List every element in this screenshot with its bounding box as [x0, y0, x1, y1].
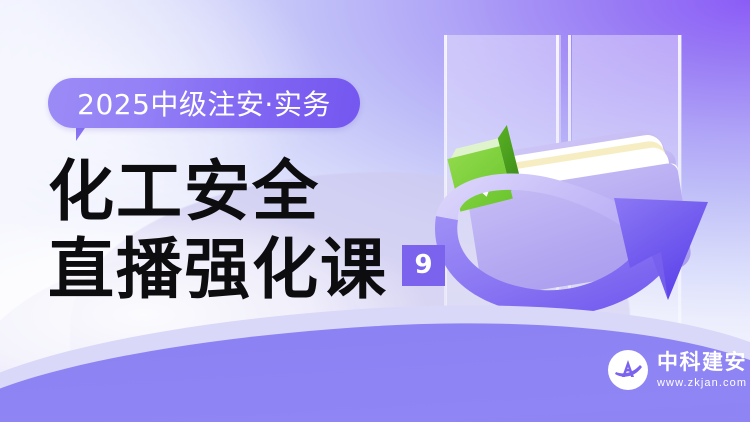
headline-line-2: 直播强化课: [48, 230, 388, 308]
headline-line-1: 化工安全: [48, 152, 320, 230]
headline-line-2-wrap: 直播强化课 9: [48, 230, 468, 308]
headline-line-1-wrap: 化工安全: [48, 152, 468, 230]
episode-number-badge: 9: [402, 245, 445, 286]
course-banner: 2025中级注安·实务 化工安全 直播强化课 9 中科建安 www.zkjan.…: [0, 0, 750, 422]
headline-block: 化工安全 直播强化课 9: [48, 152, 468, 308]
brand-logo: 中科建安 www.zkjan.com: [608, 350, 747, 390]
brand-logo-text: 中科建安 www.zkjan.com: [657, 352, 747, 389]
badge-pill: 2025中级注安·实务: [48, 78, 360, 128]
badge-pill-label: 2025中级注安·实务: [77, 83, 331, 123]
brand-url: www.zkjan.com: [657, 378, 747, 389]
zkjan-monogram-icon: [608, 350, 648, 390]
brand-name: 中科建安: [657, 352, 747, 373]
